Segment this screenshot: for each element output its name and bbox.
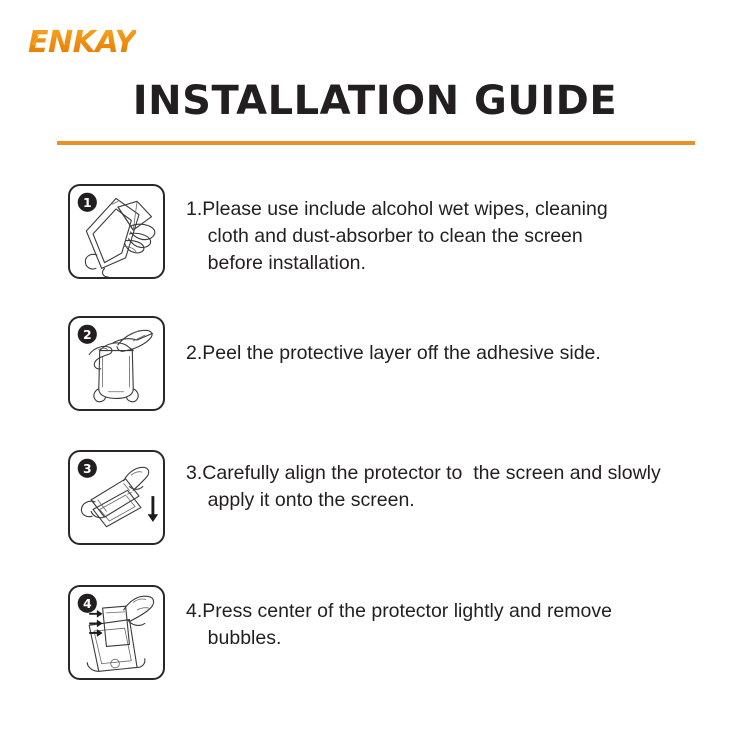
step-badge-number: 2 — [83, 327, 92, 342]
page-title: INSTALLATION GUIDE — [0, 78, 750, 124]
step-badge-number: 3 — [83, 461, 92, 476]
step-badge-number: 1 — [83, 195, 92, 210]
step-text: 4.Press center of the protector lightly … — [186, 598, 676, 652]
step-2-peel-layer-illustration: 2 — [68, 316, 165, 411]
step-text: 2.Peel the protective layer off the adhe… — [186, 340, 666, 367]
step-4-press-remove-bubbles-illustration: 4 — [68, 585, 165, 680]
step-text: 1.Please use include alcohol wet wipes, … — [186, 196, 656, 277]
step-badge-number: 4 — [83, 596, 92, 611]
step-text: 3.Carefully align the protector to the s… — [186, 460, 686, 514]
installation-guide-page: ENKAY INSTALLATION GUIDE — [0, 0, 750, 750]
header-divider — [57, 141, 695, 145]
flame-swoosh-icon — [29, 32, 45, 48]
step-1-wipe-screen-illustration: 1 — [68, 184, 165, 279]
step-3-align-protector-illustration: 3 — [68, 450, 165, 545]
brand-logo: ENKAY — [28, 26, 208, 62]
